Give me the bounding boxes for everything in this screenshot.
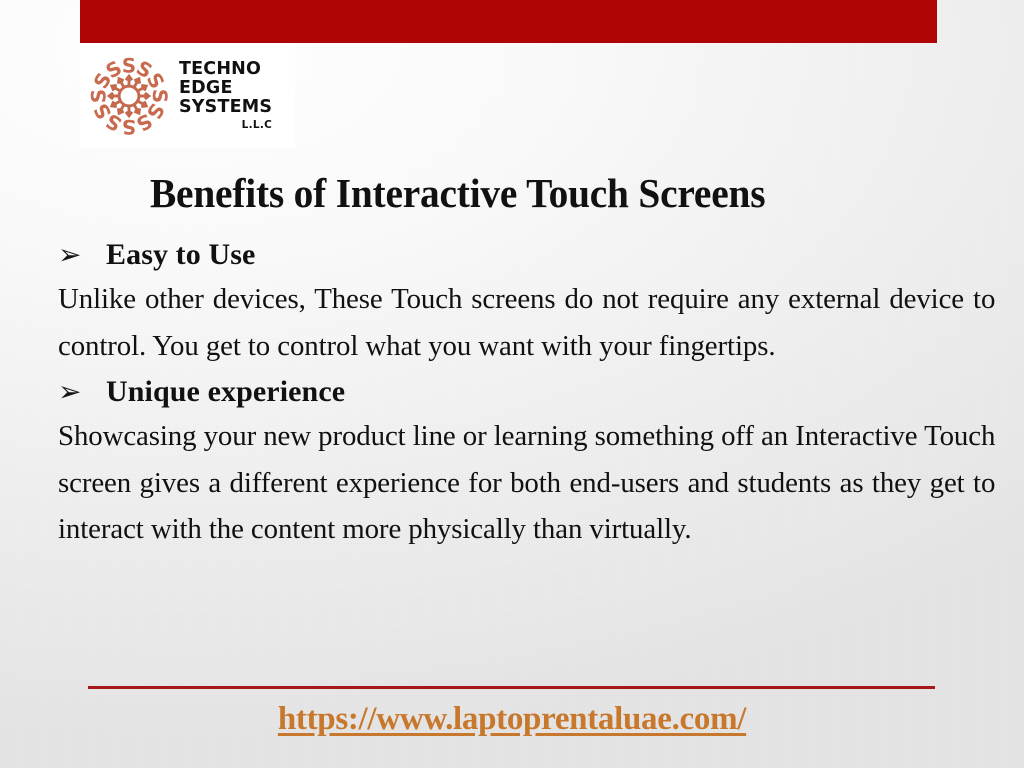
logo-line-3: SYSTEMS [179,98,272,117]
bullet-paragraph-1: Unlike other devices, These Touch screen… [58,276,995,370]
bullet-paragraph-2: Showcasing your new product line or lear… [58,413,995,554]
circular-s-emblem-icon: SSSSSSSSSSSS [86,53,172,139]
logo-line-1: TECHNO [179,60,272,79]
bullet-heading-2-label: Unique experience [106,373,1000,411]
logo-wordmark: TECHNO EDGE SYSTEMS L.L.C [179,60,272,131]
bullet-heading-1-label: Easy to Use [106,236,1000,274]
logo-suffix: L.L.C [179,119,272,131]
page-title: Benefits of Interactive Touch Screens [150,172,947,215]
footer-divider [88,686,935,689]
logo-line-2: EDGE [179,79,272,98]
company-logo: SSSSSSSSSSSS TECHNO EDGE SYSTEMS L.L.C [80,43,295,148]
arrow-bullet-icon: ➢ [58,378,106,406]
arrow-bullet-icon: ➢ [58,241,106,269]
presentation-slide: SSSSSSSSSSSS TECHNO EDGE SYSTEMS L.L.C B… [0,0,1024,768]
red-header-bar [80,0,937,43]
website-link[interactable]: https://www.laptoprentaluae.com/ [0,700,1024,740]
bullet-heading-2: ➢ Unique experience [58,373,1000,411]
bullet-heading-1: ➢ Easy to Use [58,236,1000,274]
slide-body: ➢ Easy to Use Unlike other devices, Thes… [58,236,1000,553]
